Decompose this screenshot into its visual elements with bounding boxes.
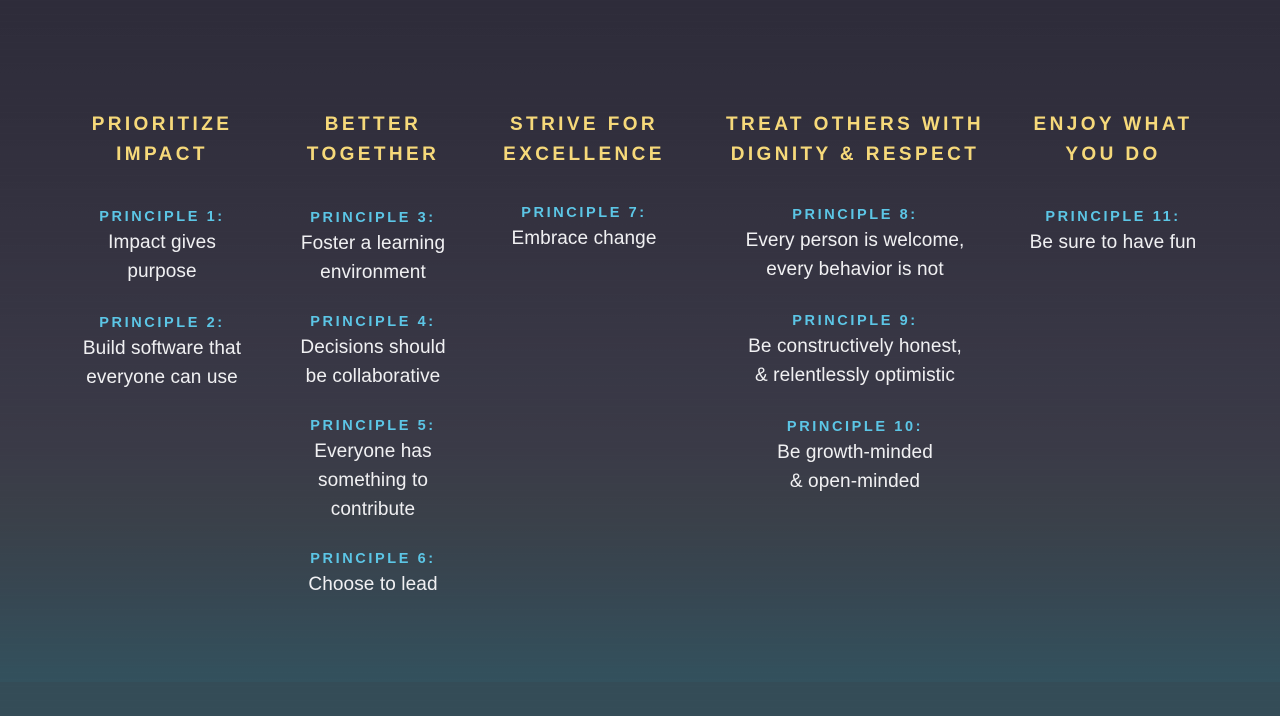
principle-label: PRINCIPLE 7: (478, 202, 690, 224)
principles-board: PRIORITIZE IMPACT PRINCIPLE 1: Impact gi… (0, 0, 1280, 716)
principle-column-strive-for-excellence: STRIVE FOR EXCELLENCE PRINCIPLE 7: Embra… (478, 110, 690, 253)
principle-column-enjoy-what-you-do: ENJOY WHAT YOU DO PRINCIPLE 11: Be sure … (1008, 110, 1218, 257)
principle-item: PRINCIPLE 11: Be sure to have fun (1008, 206, 1218, 257)
principle-item: PRINCIPLE 6: Choose to lead (268, 548, 478, 599)
principle-text: Embrace change (478, 224, 690, 253)
principle-list: PRINCIPLE 1: Impact gives purpose PRINCI… (52, 206, 272, 392)
principle-text: Be sure to have fun (1008, 228, 1218, 257)
principle-text: Be growth-minded & open-minded (690, 438, 1020, 496)
principle-item: PRINCIPLE 5: Everyone has something to c… (268, 415, 478, 524)
principle-item: PRINCIPLE 1: Impact gives purpose (52, 206, 272, 286)
principle-column-better-together: BETTER TOGETHER PRINCIPLE 3: Foster a le… (268, 110, 478, 599)
principle-text: Everyone has something to contribute (268, 437, 478, 524)
principle-text: Foster a learning environment (268, 229, 478, 287)
principle-label: PRINCIPLE 10: (690, 416, 1020, 438)
column-heading: ENJOY WHAT YOU DO (1008, 110, 1218, 170)
principle-item: PRINCIPLE 3: Foster a learning environme… (268, 207, 478, 287)
principle-text: Choose to lead (268, 570, 478, 599)
principle-label: PRINCIPLE 1: (52, 206, 272, 228)
principle-label: PRINCIPLE 8: (690, 204, 1020, 226)
principle-list: PRINCIPLE 8: Every person is welcome, ev… (690, 204, 1020, 496)
principle-list: PRINCIPLE 7: Embrace change (478, 202, 690, 253)
principle-label: PRINCIPLE 11: (1008, 206, 1218, 228)
principle-label: PRINCIPLE 3: (268, 207, 478, 229)
principle-item: PRINCIPLE 2: Build software that everyon… (52, 312, 272, 392)
principle-text: Be constructively honest, & relentlessly… (690, 332, 1020, 390)
principle-text: Every person is welcome, every behavior … (690, 226, 1020, 284)
principle-text: Decisions should be collaborative (268, 333, 478, 391)
principle-item: PRINCIPLE 9: Be constructively honest, &… (690, 310, 1020, 390)
principle-label: PRINCIPLE 4: (268, 311, 478, 333)
principle-column-prioritize-impact: PRIORITIZE IMPACT PRINCIPLE 1: Impact gi… (52, 110, 272, 392)
principle-list: PRINCIPLE 3: Foster a learning environme… (268, 207, 478, 599)
column-heading: STRIVE FOR EXCELLENCE (478, 110, 690, 170)
principle-label: PRINCIPLE 9: (690, 310, 1020, 332)
principle-list: PRINCIPLE 11: Be sure to have fun (1008, 206, 1218, 257)
principle-text: Impact gives purpose (52, 228, 272, 286)
principle-item: PRINCIPLE 10: Be growth-minded & open-mi… (690, 416, 1020, 496)
column-heading: BETTER TOGETHER (268, 110, 478, 170)
principle-item: PRINCIPLE 7: Embrace change (478, 202, 690, 253)
principle-item: PRINCIPLE 8: Every person is welcome, ev… (690, 204, 1020, 284)
column-heading: TREAT OTHERS WITH DIGNITY & RESPECT (690, 110, 1020, 170)
principle-label: PRINCIPLE 5: (268, 415, 478, 437)
principle-label: PRINCIPLE 2: (52, 312, 272, 334)
principle-column-treat-others-with-dignity-respect: TREAT OTHERS WITH DIGNITY & RESPECT PRIN… (690, 110, 1020, 496)
column-heading: PRIORITIZE IMPACT (52, 110, 272, 170)
principle-label: PRINCIPLE 6: (268, 548, 478, 570)
principle-item: PRINCIPLE 4: Decisions should be collabo… (268, 311, 478, 391)
principle-text: Build software that everyone can use (52, 334, 272, 392)
